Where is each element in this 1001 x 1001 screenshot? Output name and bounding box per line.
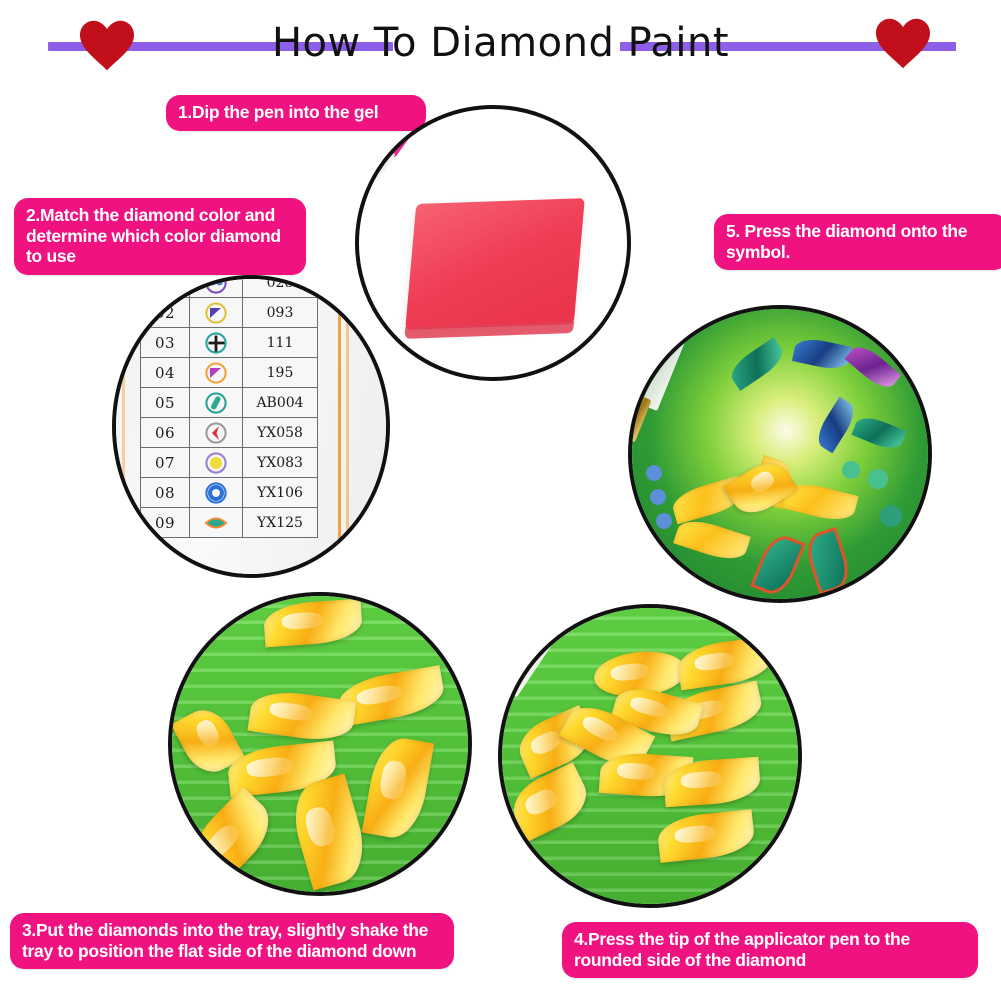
filled-dot-symbol [190,448,243,478]
legend-row: 06YX058 [141,418,318,448]
color-symbol-chart-photo: 02802093031110419505AB00406YX05807YX0830… [116,279,386,574]
step-4-label: 4.Press the tip of the applicator pen to… [562,922,978,978]
leaf-symbol [190,508,243,538]
step-4-photo-circle [498,604,802,908]
triangle-symbol [190,298,243,328]
page-title: How To Diamond Paint [0,20,1001,66]
legend-dmc-cell: YX083 [243,448,318,478]
legend-dmc-cell: 111 [243,328,318,358]
step-5-photo-circle [628,305,932,603]
legend-dmc-cell: YX058 [243,418,318,448]
infographic-canvas: How To Diamond Paint 1.Dip the pen into … [0,0,1001,1001]
legend-dmc-cell: YX125 [243,508,318,538]
canvas-gem [650,489,666,505]
chart-margin-line [122,275,125,578]
legend-code-cell: 06 [141,418,190,448]
legend-code-cell: 09 [141,508,190,538]
diagonal-bar-symbol [190,388,243,418]
legend-row: 03111 [141,328,318,358]
left-arrow-symbol [190,418,243,448]
legend-row: 028 [141,275,318,298]
legend-row: 02093 [141,298,318,328]
canvas-gem [646,465,662,481]
triangle-symbol [190,358,243,388]
canvas-gem [842,461,860,479]
legend-code-cell: 02 [141,298,190,328]
legend-row: 07YX083 [141,448,318,478]
placing-diamond-on-canvas-photo [632,309,928,599]
legend-code-cell: 08 [141,478,190,508]
legend-row: 05AB004 [141,388,318,418]
legend-code-cell: 05 [141,388,190,418]
step-1-photo-circle [355,105,631,381]
legend-row: 08YX106 [141,478,318,508]
diamonds-in-tray-photo [172,596,468,892]
step-2-label: 2.Match the diamond color and determine … [14,198,306,275]
color-legend-table: 02802093031110419505AB00406YX05807YX0830… [140,275,318,538]
step-5-label: 5. Press the diamond onto the symbol. [714,214,1001,270]
plus-symbol [190,328,243,358]
step-3-photo-circle [168,592,472,896]
canvas-gem [656,513,672,529]
legend-code-cell: 04 [141,358,190,388]
legend-dmc-cell: 028 [243,275,318,298]
legend-code-cell: 07 [141,448,190,478]
double-dot-circle-symbol [190,275,243,298]
legend-dmc-cell: AB004 [243,388,318,418]
pen-dipping-into-gel-photo [359,109,627,377]
legend-row: 09YX125 [141,508,318,538]
step-2-photo-circle: 02802093031110419505AB00406YX05807YX0830… [112,275,390,578]
step-3-label: 3.Put the diamonds into the tray, slight… [10,913,454,969]
legend-code-cell: 03 [141,328,190,358]
open-ring-symbol [190,478,243,508]
legend-row: 04195 [141,358,318,388]
pen-picking-up-diamond-photo [502,608,798,904]
legend-code-cell [141,275,190,298]
legend-dmc-cell: 195 [243,358,318,388]
legend-dmc-cell: YX106 [243,478,318,508]
legend-dmc-cell: 093 [243,298,318,328]
chart-margin-line [346,275,349,578]
canvas-gem [880,505,902,527]
gel-pad [405,198,585,330]
canvas-gem [868,469,888,489]
chart-margin-line [338,275,341,578]
